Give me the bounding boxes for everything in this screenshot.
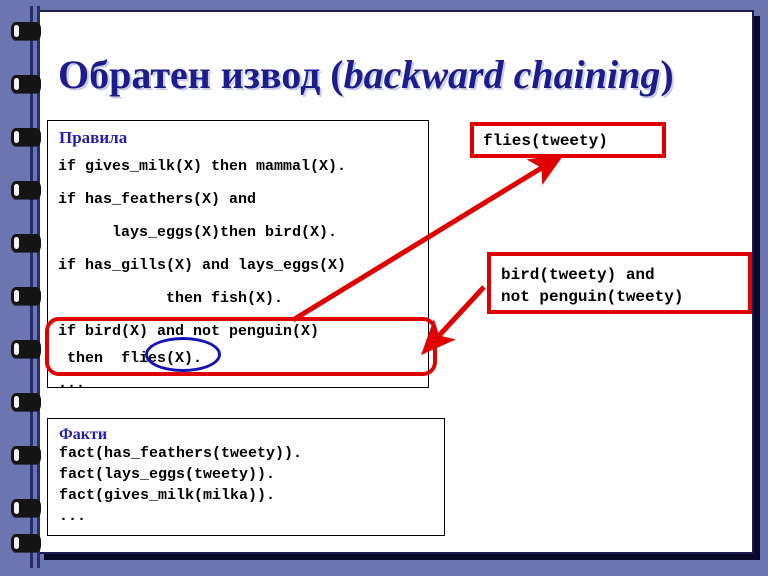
page-title-cyrillic: Обратен извод (	[58, 52, 344, 97]
spiral-ring	[11, 499, 41, 517]
page-title-close: )	[660, 52, 673, 97]
rule-line-1: if gives_milk(X) then mammal(X).	[58, 158, 346, 175]
page-title: Обратен извод (backward chaining)	[58, 52, 768, 98]
rule-line-3: lays_eggs(X)then bird(X).	[58, 224, 337, 241]
rules-header: Правила	[59, 128, 127, 148]
slide-canvas: Обратен извод (backward chaining) Правил…	[0, 0, 768, 576]
goal-box-bird-not-penguin: bird(tweety) andnot penguin(tweety)	[487, 252, 752, 314]
goal1-text: flies(tweety)	[483, 133, 608, 150]
fact-line-ellipsis: ...	[59, 508, 86, 525]
facts-box: Факти fact(has_feathers(tweety)). fact(l…	[47, 418, 445, 536]
spiral-ring	[11, 446, 41, 464]
spiral-ring	[11, 181, 41, 199]
goal2-line-2: not penguin(tweety)	[501, 288, 683, 306]
spiral-ring	[11, 340, 41, 358]
rule-line-2: if has_feathers(X) and	[58, 191, 256, 208]
fact-line-2: fact(lays_eggs(tweety)).	[59, 466, 275, 483]
rule-line-5: then fish(X).	[58, 290, 283, 307]
highlighted-rule-outline	[45, 317, 437, 376]
page-title-latin: backward chaining	[344, 52, 661, 97]
spiral-ring	[11, 393, 41, 411]
goal2-text: bird(tweety) andnot penguin(tweety)	[501, 264, 683, 308]
spiral-ring	[11, 22, 41, 40]
spiral-ring	[11, 234, 41, 252]
circled-flies-term	[145, 337, 221, 372]
facts-header: Факти	[59, 425, 107, 445]
spiral-ring	[11, 75, 41, 93]
spiral-ring	[11, 287, 41, 305]
rule-line-4: if has_gills(X) and lays_eggs(X)	[58, 257, 346, 274]
goal2-line-1: bird(tweety) and	[501, 266, 655, 284]
fact-line-1: fact(has_feathers(tweety)).	[59, 445, 302, 462]
spiral-ring	[11, 534, 41, 552]
fact-line-3: fact(gives_milk(milka)).	[59, 487, 275, 504]
goal-box-flies-tweety: flies(tweety)	[470, 122, 666, 158]
rule-line-ellipsis: ...	[58, 375, 85, 392]
spiral-ring	[11, 128, 41, 146]
